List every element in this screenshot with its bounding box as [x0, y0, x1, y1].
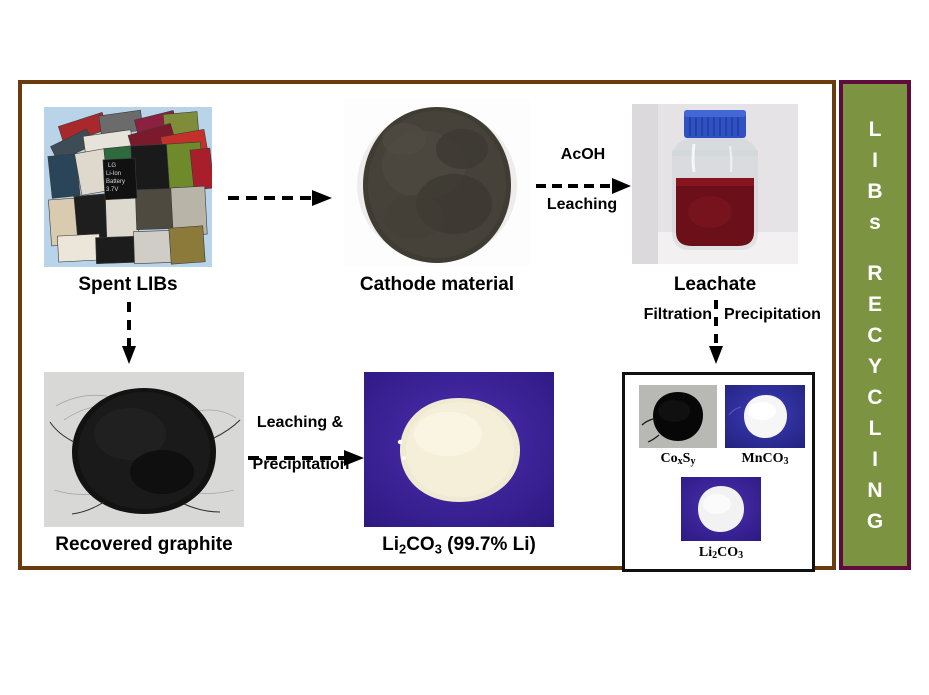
- battery-pile-illustration: LG Li-Ion Battery 3.7V: [44, 107, 212, 267]
- label-cathode-material: Cathode material: [326, 274, 548, 296]
- svg-text:3.7V: 3.7V: [106, 187, 118, 193]
- li2co3s-mid: CO: [717, 545, 738, 560]
- arrow-cathode-to-leachate: [534, 176, 634, 196]
- photo-spent-lithium-ion-batteries: LG Li-Ion Battery 3.7V: [44, 107, 212, 267]
- recovered-products-box: CoxSy MnCO3: [622, 372, 815, 572]
- label-lithium-carbonate: Li2CO3 (99.7% Li): [290, 534, 628, 557]
- manganese-carbonate-illustration: [725, 385, 805, 448]
- label-leaching: Leaching: [530, 196, 634, 214]
- arrow-libs-to-cathode: [226, 188, 336, 208]
- photo-cathode-powder: [344, 99, 530, 267]
- label-acoh: AcOH: [538, 146, 628, 164]
- label-cobalt-sulfide: CoxSy: [639, 451, 717, 467]
- label-lithium-carbonate-small: Li2CO3: [671, 545, 771, 561]
- li2co3-text-mid: CO: [406, 534, 435, 555]
- cobalt-sulfide-illustration: [639, 385, 717, 448]
- leachate-bottle-illustration: [632, 104, 798, 264]
- side-letter-6: C: [867, 320, 882, 351]
- lithium-carbonate-small-illustration: [681, 477, 761, 541]
- label-leachate: Leachate: [618, 274, 812, 296]
- photo-manganese-carbonate: [725, 385, 805, 448]
- libs-recycling-side-panel: L I B s R E C Y C L I N G: [839, 80, 911, 570]
- side-letter-9: L: [869, 413, 882, 444]
- mnco3-prefix: MnCO: [742, 451, 784, 466]
- svg-text:Li-Ion: Li-Ion: [106, 171, 121, 177]
- coxsy-prefix: Co: [661, 451, 678, 466]
- photo-leachate-bottle: [632, 104, 798, 264]
- side-letter-8: C: [867, 382, 882, 413]
- side-letter-2: B: [867, 176, 882, 207]
- graphite-powder-illustration: [44, 372, 244, 527]
- li2co3-text-sub2: 3: [435, 542, 442, 557]
- cathode-powder-illustration: [344, 99, 530, 267]
- side-letter-5: E: [868, 289, 882, 320]
- label-leaching-and: Leaching &: [246, 414, 354, 432]
- li2co3-text-suffix: (99.7% Li): [442, 534, 536, 555]
- label-filtration: Filtration: [606, 306, 712, 324]
- graphical-abstract-figure: LG Li-Ion Battery 3.7V Spent LIBs: [18, 80, 911, 570]
- photo-cobalt-sulfide: [639, 385, 717, 448]
- coxsy-sub2: y: [690, 456, 695, 467]
- label-precipitation-bottom: Precipitation: [240, 456, 362, 474]
- side-letter-1: I: [872, 145, 878, 176]
- li2co3s-sub2: 3: [738, 550, 743, 561]
- label-precipitation-right: Precipitation: [724, 306, 844, 324]
- label-manganese-carbonate: MnCO3: [725, 451, 805, 467]
- svg-text:Battery: Battery: [106, 179, 125, 185]
- side-letter-7: Y: [868, 351, 882, 382]
- main-figure-frame: LG Li-Ion Battery 3.7V Spent LIBs: [18, 80, 836, 570]
- photo-recovered-graphite: [44, 372, 244, 527]
- side-letter-0: L: [869, 114, 882, 145]
- arrow-libs-to-graphite: [118, 300, 140, 366]
- svg-text:LG: LG: [108, 163, 116, 169]
- label-recovered-graphite: Recovered graphite: [28, 534, 260, 556]
- photo-lithium-carbonate-small: [681, 477, 761, 541]
- photo-lithium-carbonate: [364, 372, 554, 527]
- lithium-carbonate-powder-illustration: [364, 372, 554, 527]
- side-letter-3: s: [869, 207, 881, 238]
- side-letter-10: I: [872, 444, 878, 475]
- side-letter-12: G: [867, 506, 883, 537]
- side-letter-11: N: [867, 475, 882, 506]
- li2co3-text-prefix: Li: [382, 534, 399, 555]
- mnco3-sub1: 3: [784, 456, 789, 467]
- label-spent-libs: Spent LIBs: [44, 274, 212, 296]
- li2co3s-prefix: Li: [699, 545, 712, 560]
- side-letter-4: R: [867, 258, 882, 289]
